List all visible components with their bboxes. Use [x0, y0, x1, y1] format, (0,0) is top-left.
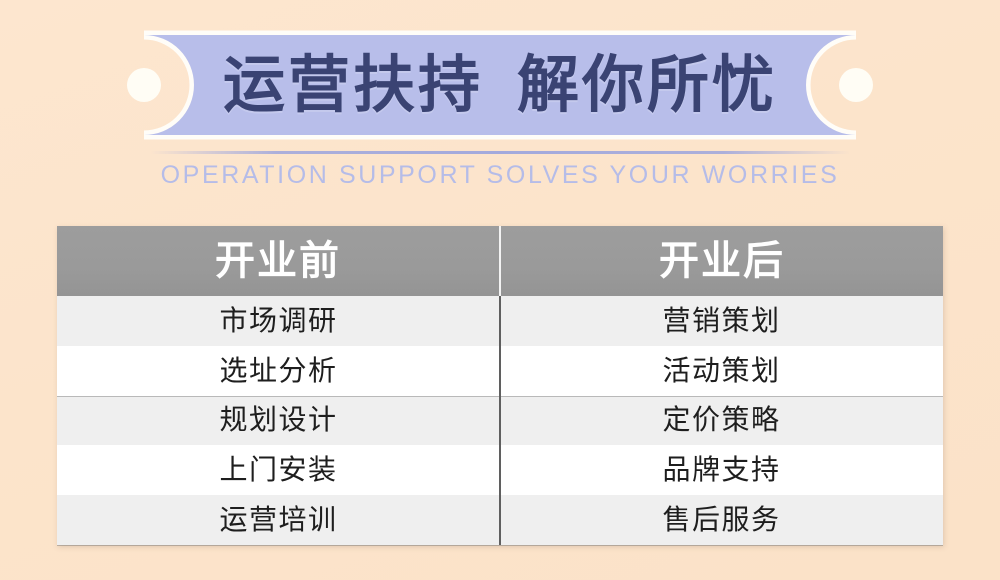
cell-after: 活动策划: [500, 346, 943, 396]
cell-before: 规划设计: [57, 396, 500, 446]
table-row: 市场调研 营销策划: [57, 296, 943, 346]
table-header-before: 开业前: [57, 226, 501, 296]
cell-before: 运营培训: [57, 495, 500, 545]
cell-after: 品牌支持: [500, 445, 943, 495]
title-underline-rule: [150, 151, 850, 154]
cell-after: 定价策略: [500, 396, 943, 446]
table-row: 上门安装 品牌支持: [57, 445, 943, 495]
cell-after: 售后服务: [500, 495, 943, 545]
badge-right-dot-icon: [839, 68, 873, 102]
cell-after: 营销策划: [500, 296, 943, 346]
comparison-table: 开业前 开业后 市场调研 营销策划 选址分析 活动策划 规划设计 定价策略 上门…: [57, 226, 943, 545]
table-row: 运营培训 售后服务: [57, 495, 943, 545]
badge-shape: [90, 31, 910, 139]
badge-left-dot-icon: [127, 68, 161, 102]
cell-before: 选址分析: [57, 346, 500, 396]
table-header-after: 开业后: [501, 226, 943, 296]
page-subtitle: OPERATION SUPPORT SOLVES YOUR WORRIES: [0, 161, 1000, 190]
table-header-row: 开业前 开业后: [57, 226, 943, 296]
badge-fill: [144, 35, 856, 135]
poster-root: 运营扶持 解你所忧 OPERATION SUPPORT SOLVES YOUR …: [0, 0, 1000, 580]
table-row: 规划设计 定价策略: [57, 396, 943, 446]
cell-before: 市场调研: [57, 296, 500, 346]
table-body: 市场调研 营销策划 选址分析 活动策划 规划设计 定价策略 上门安装 品牌支持 …: [57, 296, 943, 545]
table-row: 选址分析 活动策划: [57, 346, 943, 396]
title-badge: 运营扶持 解你所忧: [90, 31, 910, 139]
cell-before: 上门安装: [57, 445, 500, 495]
